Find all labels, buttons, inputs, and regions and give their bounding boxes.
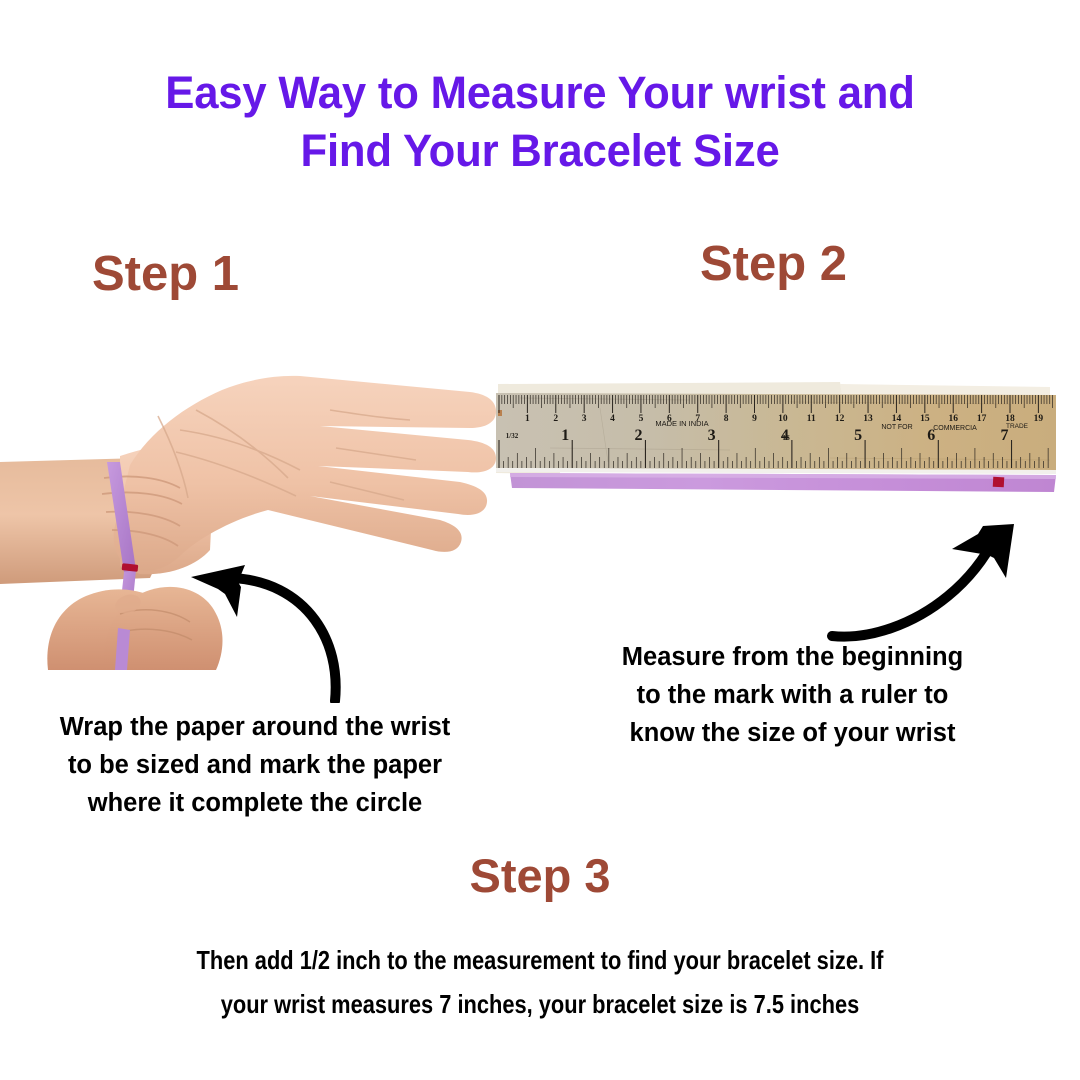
svg-text:1/32: 1/32 (506, 432, 519, 440)
ruler-cm-label: 14 (892, 414, 902, 424)
svg-text:TRADE: TRADE (1006, 423, 1029, 430)
step-2-caption-line-1: Measure from the beginning (565, 638, 1020, 676)
ruler-cm-label: 11 (807, 414, 816, 424)
ruler-cm-label: 13 (863, 414, 873, 424)
ruler-inch-label: 1 (561, 427, 569, 444)
ruler-with-paper-strip-photo: 12345678910111213141516171819 1234567 1/… (490, 378, 1060, 500)
ruler-cm-label: 17 (977, 414, 987, 424)
ruler-inch-label: 2 (634, 427, 642, 444)
ruler-cm-label: 19 (1034, 414, 1044, 424)
svg-text:COMMERCIA: COMMERCIA (933, 425, 977, 432)
svg-text:MADE IN INDIA: MADE IN INDIA (655, 419, 708, 428)
ruler-cm-label: 10 (778, 414, 788, 424)
step-2-caption-line-2: to the mark with a ruler to (565, 676, 1020, 714)
ruler-cm-label: 3 (582, 414, 587, 424)
step-1-caption-line-2: to be sized and mark the paper (10, 746, 500, 784)
svg-text:16: 16 (782, 433, 790, 442)
ruler-inch-label: 3 (708, 427, 716, 444)
infographic-root: Easy Way to Measure Your wrist and Find … (0, 0, 1080, 1080)
ruler-cm-label: 12 (835, 414, 845, 424)
ruler-cm-label: 1 (525, 414, 530, 424)
ruler-cm-label: 8 (724, 414, 729, 424)
page-title-line-2: Find Your Bracelet Size (16, 122, 1064, 180)
ruler-cm-label: 4 (610, 414, 615, 424)
ruler-cm-label: 5 (639, 414, 644, 424)
curved-arrow-left-icon (175, 558, 360, 703)
ruler-cm-label: 15 (920, 414, 930, 424)
page-title-line-1: Easy Way to Measure Your wrist and (16, 64, 1064, 122)
step-2-heading: Step 2 (700, 240, 847, 289)
ruler-cm-label: 9 (752, 414, 757, 424)
step-1-caption-line-1: Wrap the paper around the wrist (10, 708, 500, 746)
page-title: Easy Way to Measure Your wrist and Find … (16, 64, 1064, 180)
step-2-caption: Measure from the beginning to the mark w… (565, 638, 1020, 752)
step-1-caption-line-3: where it complete the circle (10, 784, 500, 822)
step-3-caption-line-2: your wrist measures 7 inches, your brace… (137, 982, 943, 1026)
ruler-cm-label: 2 (553, 414, 558, 424)
ruler-cm-label: 16 (948, 414, 958, 424)
curved-arrow-up-right-icon (818, 508, 1033, 643)
ruler-inch-label: 5 (854, 427, 862, 444)
step-3-caption: Then add 1/2 inch to the measurement to … (137, 938, 943, 1026)
step-1-caption: Wrap the paper around the wrist to be si… (10, 708, 500, 822)
step-1-heading: Step 1 (92, 250, 239, 299)
step-3-caption-line-1: Then add 1/2 inch to the measurement to … (137, 938, 943, 982)
step-2-caption-line-3: know the size of your wrist (565, 714, 1020, 752)
svg-text:NOT FOR: NOT FOR (881, 424, 912, 431)
step-3-heading: Step 3 (0, 852, 1080, 899)
